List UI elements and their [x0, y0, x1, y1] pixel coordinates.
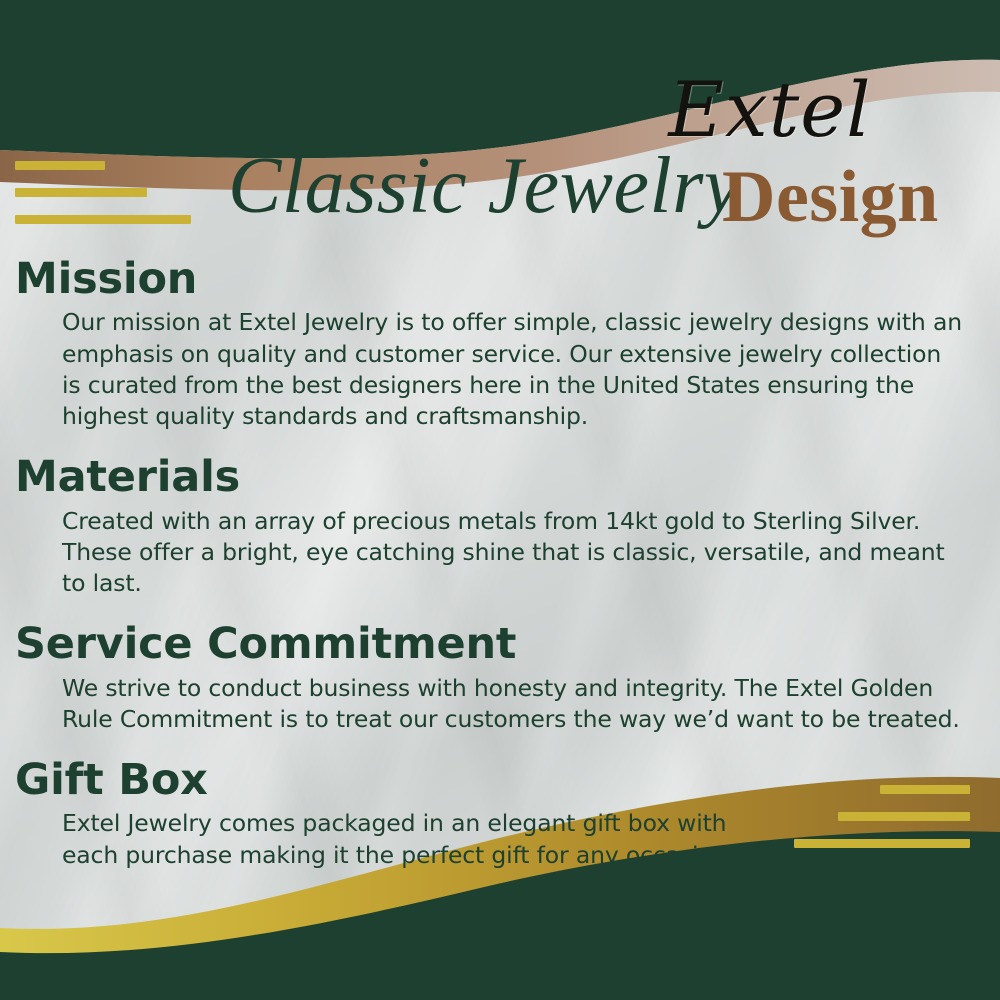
section-title-mission: Mission [15, 256, 1000, 303]
section-mission: Mission Our mission at Extel Jewelry is … [0, 256, 1000, 432]
section-title-materials: Materials [15, 454, 1000, 501]
headline-accent: Design [722, 160, 939, 234]
section-title-service-commitment: Service Commitment [15, 621, 1000, 668]
content-sections: Mission Our mission at Extel Jewelry is … [0, 256, 1000, 893]
poster-canvas: Extel Classic Jewelry Design Mission Our… [0, 0, 1000, 1000]
headline-main: Classic Jewelry [228, 146, 740, 226]
section-body-gift-box: Extel Jewelry comes packaged in an elega… [62, 808, 750, 871]
headline: Classic Jewelry Design [0, 150, 1000, 260]
section-materials: Materials Created with an array of preci… [0, 454, 1000, 599]
section-gift-box: Gift Box Extel Jewelry comes packaged in… [0, 757, 1000, 871]
section-title-gift-box: Gift Box [15, 757, 1000, 804]
brand-logo: Extel [600, 72, 940, 148]
section-body-materials: Created with an array of precious metals… [62, 506, 966, 600]
section-body-service-commitment: We strive to conduct business with hones… [62, 673, 966, 736]
section-service-commitment: Service Commitment We strive to conduct … [0, 621, 1000, 735]
section-body-mission: Our mission at Extel Jewelry is to offer… [62, 307, 966, 432]
